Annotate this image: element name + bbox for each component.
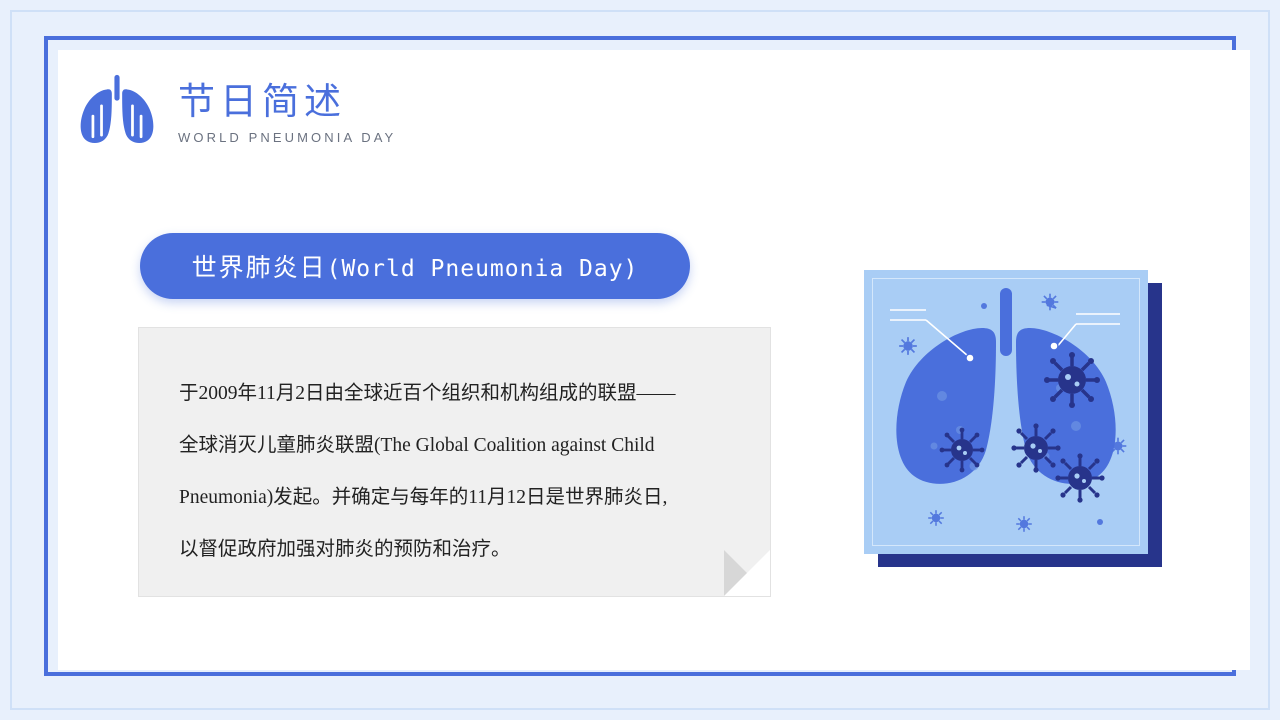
header-title-block: 节日简述 WORLD PNEUMONIA DAY — [178, 77, 396, 145]
description-line: 全球消灭儿童肺炎联盟(The Global Coalition against … — [179, 420, 730, 472]
section-banner-label: 世界肺炎日(World Pneumonia Day) — [192, 248, 639, 284]
description-text: 于2009年11月2日由全球近百个组织和机构组成的联盟—— 全球消灭儿童肺炎联盟… — [139, 328, 770, 576]
slide: 节日简述 WORLD PNEUMONIA DAY 世界肺炎日(World Pne… — [0, 0, 1280, 720]
banner-label-cn: 世界肺炎日 — [192, 254, 327, 282]
page-title: 节日简述 — [178, 81, 396, 124]
description-line: 于2009年11月2日由全球近百个组织和机构组成的联盟—— — [179, 368, 730, 420]
lungs-icon — [74, 68, 160, 154]
panel-fold-corner — [724, 550, 770, 596]
illustration — [864, 270, 1148, 554]
page-subtitle: WORLD PNEUMONIA DAY — [178, 130, 396, 145]
description-line: Pneumonia)发起。并确定与每年的11月12日是世界肺炎日, — [179, 472, 730, 524]
section-banner: 世界肺炎日(World Pneumonia Day) — [140, 233, 690, 299]
banner-label-en: (World Pneumonia Day) — [327, 256, 639, 282]
description-panel: 于2009年11月2日由全球近百个组织和机构组成的联盟—— 全球消灭儿童肺炎联盟… — [138, 327, 771, 597]
description-line: 以督促政府加强对肺炎的预防和治疗。 — [179, 524, 730, 576]
header: 节日简述 WORLD PNEUMONIA DAY — [74, 68, 396, 154]
